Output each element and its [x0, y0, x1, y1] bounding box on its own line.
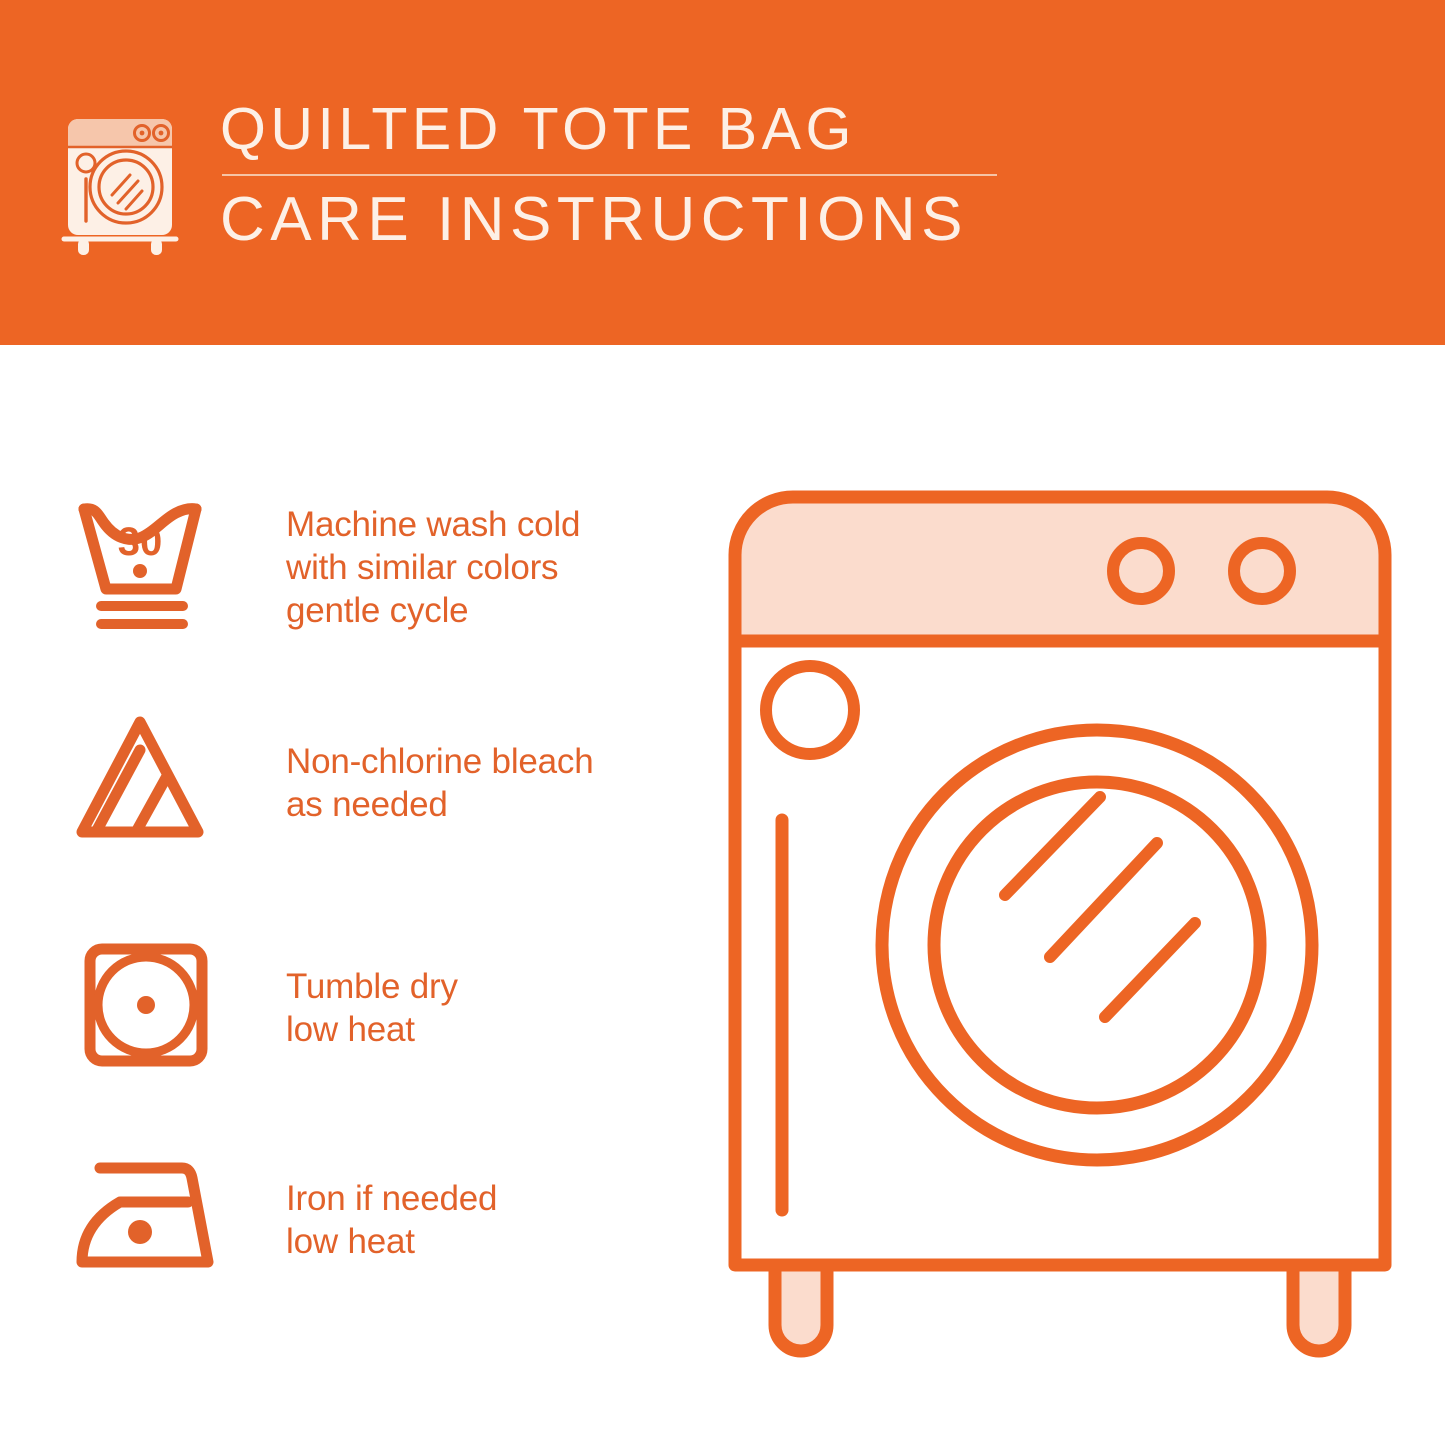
shine-line-2 — [1050, 843, 1157, 957]
leg-right — [1293, 1265, 1345, 1351]
care-instructions-infographic: QUILTED TOTE BAG CARE INSTRUCTIONS 30 — [0, 0, 1445, 1445]
care-row-machine-wash: 30 Machine wash cold with similar colors… — [70, 485, 690, 650]
iron-low-heat-icon — [70, 1138, 250, 1303]
care-text-bleach: Non-chlorine bleach as needed — [286, 740, 690, 826]
care-line: low heat — [286, 1008, 690, 1051]
detergent-dispenser — [766, 666, 854, 754]
care-line: low heat — [286, 1220, 690, 1263]
header-content: QUILTED TOTE BAG CARE INSTRUCTIONS — [60, 95, 1390, 270]
care-row-iron: Iron if needed low heat — [70, 1145, 690, 1295]
page-subtitle: CARE INSTRUCTIONS — [220, 186, 1390, 254]
large-washing-machine-illustration — [705, 465, 1415, 1375]
care-row-tumble-dry: Tumble dry low heat — [70, 925, 690, 1090]
care-line: gentle cycle — [286, 589, 690, 632]
non-chlorine-bleach-icon — [70, 700, 250, 865]
leg-left — [775, 1265, 827, 1351]
care-line: with similar colors — [286, 546, 690, 589]
care-text-iron: Iron if needed low heat — [286, 1177, 690, 1263]
shine-line-1 — [1005, 797, 1100, 895]
care-line: Iron if needed — [286, 1177, 690, 1220]
drum-inner-ring — [934, 782, 1260, 1108]
header-band: QUILTED TOTE BAG CARE INSTRUCTIONS — [0, 0, 1445, 345]
care-line: as needed — [286, 783, 690, 826]
shine-line-3 — [1105, 923, 1195, 1017]
wash-temperature-label: 30 — [118, 520, 163, 564]
care-line: Machine wash cold — [286, 503, 690, 546]
washing-machine-icon — [60, 99, 180, 259]
page-title: QUILTED TOTE BAG — [220, 97, 1390, 161]
care-text-machine-wash: Machine wash cold with similar colors ge… — [286, 503, 690, 632]
care-text-tumble-dry: Tumble dry low heat — [286, 965, 690, 1051]
title-divider — [222, 174, 997, 176]
machine-wash-30-icon: 30 — [70, 485, 250, 650]
care-line: Tumble dry — [286, 965, 690, 1008]
care-row-bleach: Non-chlorine bleach as needed — [70, 700, 690, 865]
care-line: Non-chlorine bleach — [286, 740, 690, 783]
header-title-group: QUILTED TOTE BAG CARE INSTRUCTIONS — [220, 95, 1390, 254]
tumble-dry-low-icon — [70, 925, 250, 1090]
